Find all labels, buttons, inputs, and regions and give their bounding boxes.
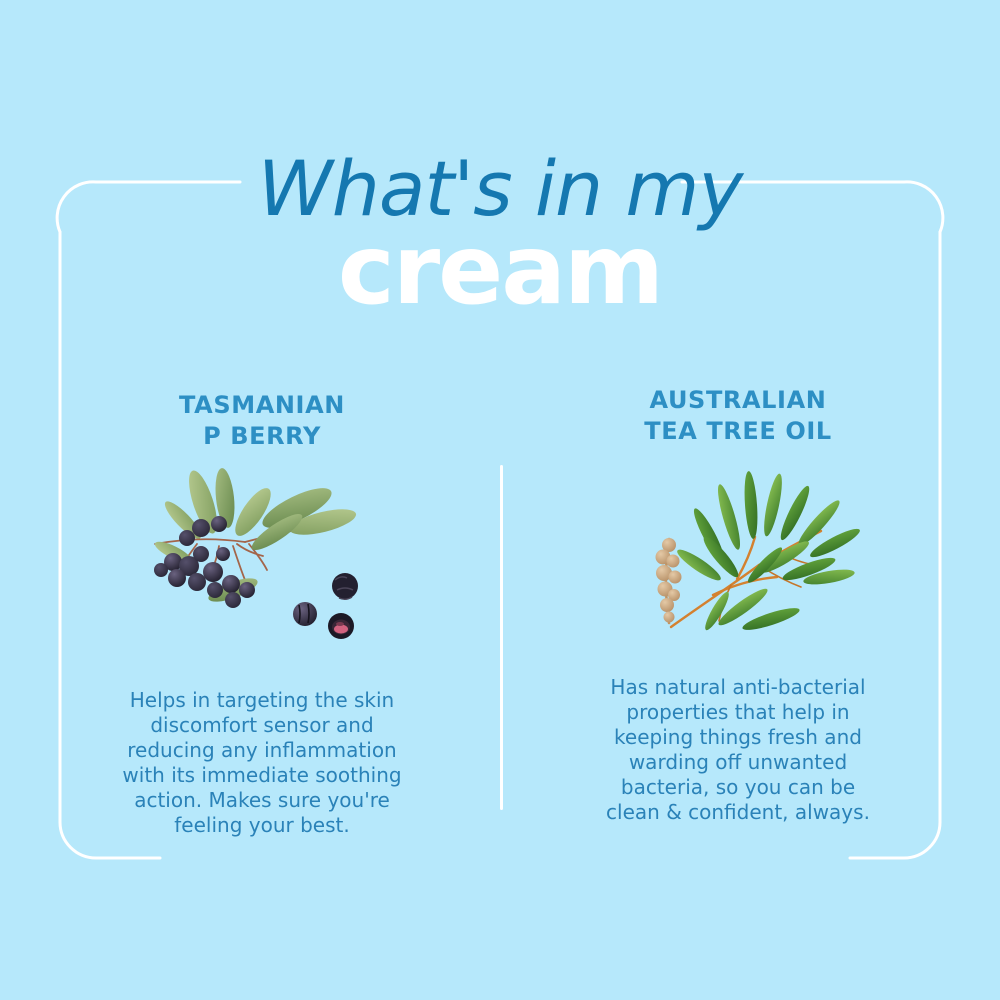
ingredient-card-australian-tea-tree-oil: AUSTRALIAN TEA TREE OIL [500,390,940,870]
loose-berry-cut [328,613,354,639]
page-title: What's in my cream [0,150,1000,318]
loose-berry-whole [293,602,317,626]
tasmanian-pepper-berry-illustration [137,466,387,656]
loose-berry-dried [332,573,358,599]
tea-tree-sprig-illustration [613,461,863,651]
ingredient-card-tasmanian-p-berry: TASMANIAN P BERRY [60,390,500,870]
title-line-2: cream [0,222,1000,318]
ingredient-infographic: { "theme": { "background": "#b6e8fb", "t… [0,0,1000,1000]
ingredient-columns: TASMANIAN P BERRY [60,390,940,870]
ingredient-description: Helps in targeting the skin discomfort s… [112,688,412,838]
ingredient-description: Has natural anti-bacterial properties th… [593,675,883,825]
ingredient-heading: AUSTRALIAN TEA TREE OIL [644,385,832,447]
ingredient-heading: TASMANIAN P BERRY [179,390,345,452]
